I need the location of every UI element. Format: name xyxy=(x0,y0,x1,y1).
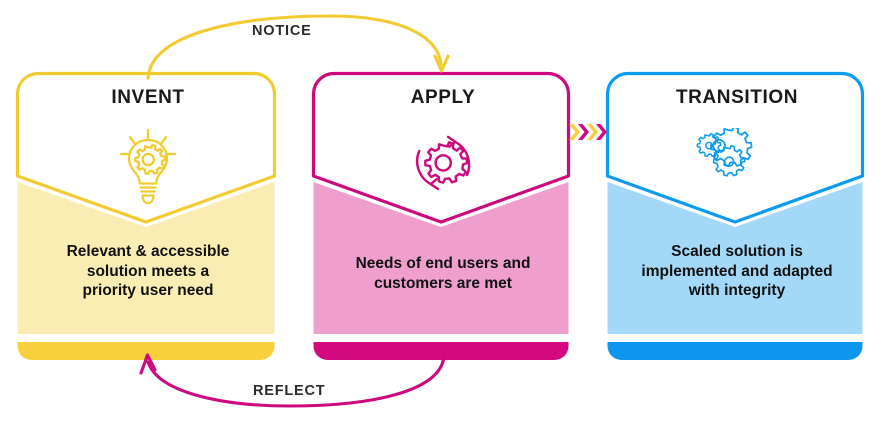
card-transition-desc-line-3: with integrity xyxy=(689,282,785,299)
three-gears-icon xyxy=(696,128,780,208)
card-invent-desc-line-2: solution meets a xyxy=(87,263,209,280)
card-transition-description: Scaled solution is implemented and adapt… xyxy=(604,242,870,301)
diagram-canvas: INVENT xyxy=(0,0,883,423)
card-apply-description: Needs of end users and customers are met xyxy=(310,254,576,293)
card-apply-desc-line-2: customers are met xyxy=(374,275,512,292)
card-transition-bottom-bar xyxy=(608,342,863,360)
card-invent-desc-line-1: Relevant & accessible xyxy=(67,243,230,260)
card-transition-title: TRANSITION xyxy=(604,87,870,109)
card-apply[interactable]: APPLY Needs of end users and custom xyxy=(310,70,576,362)
card-invent-title: INVENT xyxy=(14,87,282,109)
card-apply-shape xyxy=(310,70,576,362)
card-invent-bottom-bar xyxy=(18,342,275,360)
card-transition-desc-line-2: implemented and adapted xyxy=(641,263,832,280)
card-apply-desc-line-1: Needs of end users and xyxy=(356,255,531,272)
card-invent-desc-line-3: priority user need xyxy=(83,282,214,299)
flow-label-notice: NOTICE xyxy=(252,23,312,39)
card-apply-bottom-bar xyxy=(314,342,569,360)
card-invent-description: Relevant & accessible solution meets a p… xyxy=(14,242,282,301)
flow-label-reflect: REFLECT xyxy=(253,383,325,399)
card-apply-title: APPLY xyxy=(310,87,576,109)
card-transition-shape xyxy=(604,70,870,362)
card-transition[interactable]: TRANSITION Scaled solution is xyxy=(604,70,870,362)
chevron-arrows-connector xyxy=(568,118,610,146)
card-transition-desc-line-1: Scaled solution is xyxy=(671,243,803,260)
chevron-icon-1 xyxy=(569,124,580,140)
card-invent-shape xyxy=(14,70,282,362)
gear-cycle-icon xyxy=(410,132,476,204)
card-invent[interactable]: INVENT xyxy=(14,70,282,362)
lightbulb-gear-icon xyxy=(118,128,178,206)
